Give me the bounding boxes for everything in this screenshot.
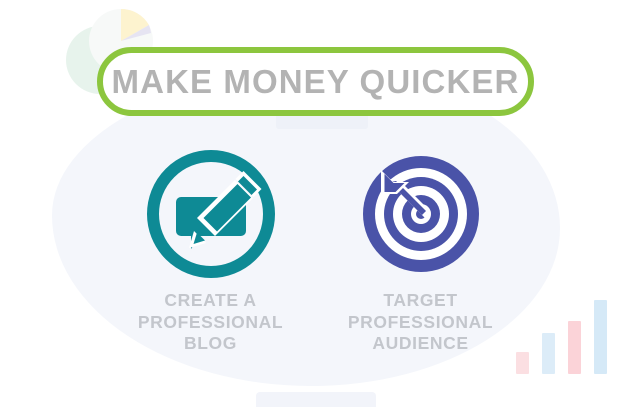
feature-item-target-audience[interactable]: TARGET PROFESSIONAL AUDIENCE	[345, 150, 497, 355]
background-plate-bottom	[256, 392, 376, 407]
feature-caption-line: PROFESSIONAL	[138, 312, 283, 334]
background-bar-1	[516, 352, 529, 374]
target-arrow-icon	[357, 150, 485, 278]
feature-caption-line: AUDIENCE	[348, 333, 493, 355]
feature-caption-line: CREATE A	[138, 290, 283, 312]
blog-pencil-icon	[147, 150, 275, 278]
feature-caption: TARGET PROFESSIONAL AUDIENCE	[348, 290, 493, 355]
feature-caption-line: BLOG	[138, 333, 283, 355]
promo-banner-canvas: MAKE MONEY QUICKER CREATE A PROFESSIONA	[0, 0, 631, 407]
feature-caption: CREATE A PROFESSIONAL BLOG	[138, 290, 283, 355]
page-title: MAKE MONEY QUICKER	[112, 65, 520, 98]
feature-caption-line: PROFESSIONAL	[348, 312, 493, 334]
feature-caption-line: TARGET	[348, 290, 493, 312]
feature-list: CREATE A PROFESSIONAL BLOG	[0, 150, 631, 355]
feature-item-create-blog[interactable]: CREATE A PROFESSIONAL BLOG	[135, 150, 287, 355]
headline-pill: MAKE MONEY QUICKER	[97, 47, 534, 116]
